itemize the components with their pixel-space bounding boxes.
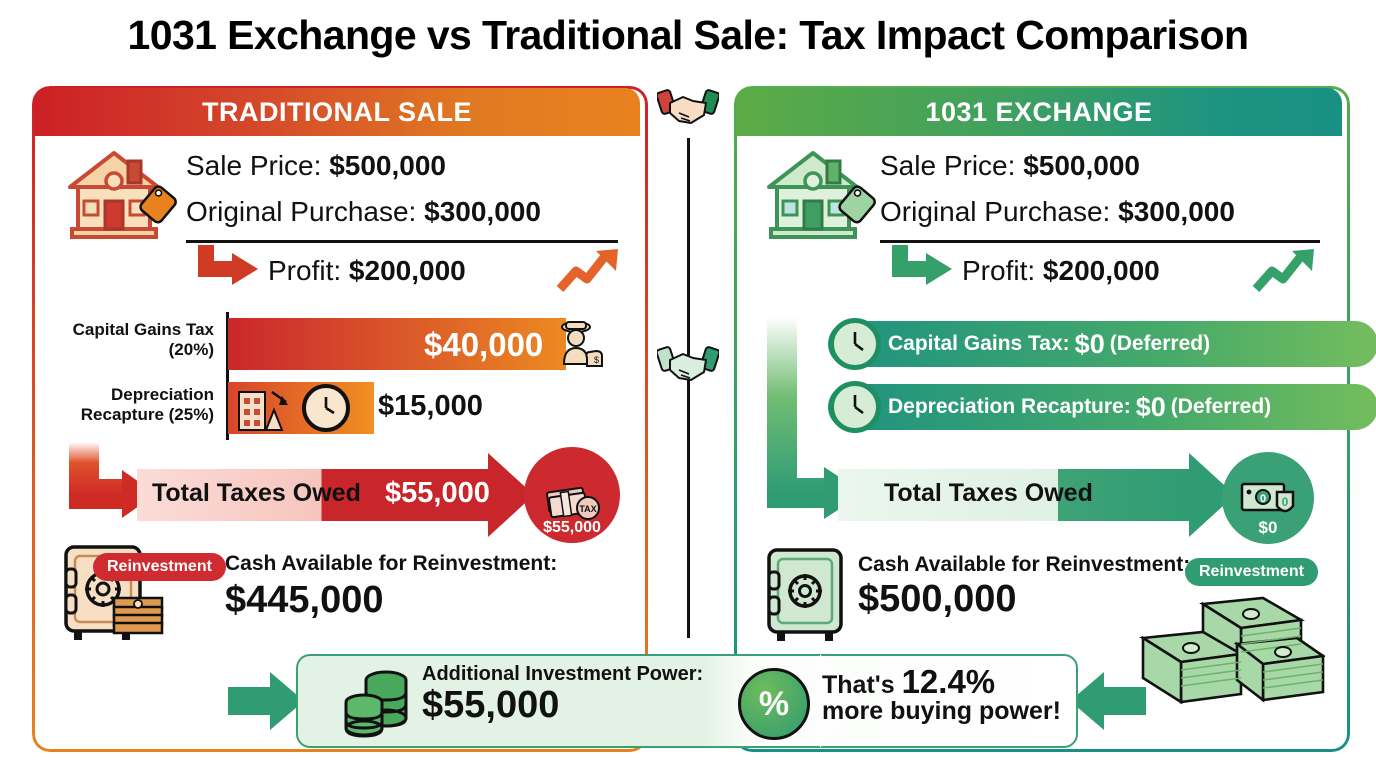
percent-badge-icon: % xyxy=(738,668,810,740)
page-title: 1031 Exchange vs Traditional Sale: Tax I… xyxy=(0,12,1376,59)
divider-rule-right xyxy=(880,240,1320,243)
cash-available-value-left: $445,000 xyxy=(225,579,384,622)
total-taxes-circle-value-left: $55,000 xyxy=(543,519,601,537)
sale-price-value-left: $500,000 xyxy=(329,150,446,181)
capital-gains-value-left: $40,000 xyxy=(424,326,543,364)
sale-price-row-right: Sale Price: $500,000 xyxy=(880,150,1140,182)
capital-gains-note-right: (Deferred) xyxy=(1110,332,1210,356)
depreciation-pill-right: Depreciation Recapture: $0 (Deferred) xyxy=(828,384,1376,430)
divider-rule-left xyxy=(186,240,618,243)
buying-power-line1: That's 12.4% xyxy=(822,663,995,701)
trend-up-icon-right xyxy=(1252,245,1320,300)
profit-row-right: Profit: $200,000 xyxy=(962,255,1160,287)
trend-up-icon-left xyxy=(556,245,624,300)
additional-investment-power-label: Additional Investment Power: xyxy=(422,663,703,686)
capital-gains-label-right: Capital Gains Tax: xyxy=(888,332,1070,356)
total-taxes-circle-value-right: $0 xyxy=(1259,518,1278,538)
sale-price-value-right: $500,000 xyxy=(1023,150,1140,181)
depreciation-value-left: $15,000 xyxy=(378,390,483,423)
exchange-1031-header: 1031 EXCHANGE xyxy=(736,88,1342,136)
original-purchase-value-right: $300,000 xyxy=(1118,196,1235,227)
capital-gains-pill-right: Capital Gains Tax: $0 (Deferred) xyxy=(828,321,1376,367)
profit-value-left: $200,000 xyxy=(349,255,466,286)
depreciation-value-right: $0 xyxy=(1136,392,1166,423)
profit-value-right: $200,000 xyxy=(1043,255,1160,286)
profit-label-right: Profit: xyxy=(962,255,1035,286)
total-taxes-value-left: $55,000 xyxy=(385,477,490,510)
svg-text:$: $ xyxy=(594,355,599,365)
clock-icon-left xyxy=(302,384,350,432)
house-icon-left xyxy=(58,143,178,243)
cash-available-value-right: $500,000 xyxy=(858,578,1017,621)
banner-arrow-left-tail xyxy=(228,687,274,715)
sale-price-label-left: Sale Price: xyxy=(186,150,321,181)
traditional-sale-header: TRADITIONAL SALE xyxy=(34,88,640,136)
original-purchase-label-left: Original Purchase: xyxy=(186,196,416,227)
svg-text:TAX: TAX xyxy=(579,504,596,514)
total-taxes-circle-left: TAX $55,000 xyxy=(524,447,620,543)
buying-power-prefix: That's xyxy=(822,671,895,699)
depreciation-label-right: Depreciation Recapture: xyxy=(888,395,1131,419)
capital-gains-value-right: $0 xyxy=(1075,329,1105,360)
total-taxes-label-right: Total Taxes Owed xyxy=(884,479,1093,508)
original-purchase-label-right: Original Purchase: xyxy=(880,196,1110,227)
clock-icon-depreciation xyxy=(829,381,881,433)
traditional-sale-header-label: TRADITIONAL SALE xyxy=(202,97,472,128)
svg-text:0: 0 xyxy=(1260,493,1266,505)
exchange-1031-header-label: 1031 EXCHANGE xyxy=(925,97,1152,128)
cash-available-label-left: Cash Available for Reinvestment: xyxy=(225,552,557,576)
cash-available-label-right: Cash Available for Reinvestment: xyxy=(858,553,1190,577)
building-decline-icon xyxy=(236,386,292,437)
clock-icon-capital-gains xyxy=(829,318,881,370)
banner-arrow-right-tail xyxy=(1100,687,1146,715)
sale-price-label-right: Sale Price: xyxy=(880,150,1015,181)
capital-gains-label-left: Capital Gains Tax (20%) xyxy=(58,320,214,361)
profit-row-left: Profit: $200,000 xyxy=(268,255,466,287)
money-stack-icon-right xyxy=(1125,594,1325,719)
depreciation-note-right: (Deferred) xyxy=(1171,395,1271,419)
percent-glyph: % xyxy=(759,685,789,724)
sale-price-row-left: Sale Price: $500,000 xyxy=(186,150,446,182)
additional-investment-power-value: $55,000 xyxy=(422,684,559,727)
original-purchase-value-left: $300,000 xyxy=(424,196,541,227)
total-taxes-label-left: Total Taxes Owed xyxy=(152,479,361,508)
buying-power-percent: 12.4% xyxy=(902,663,996,700)
svg-text:0: 0 xyxy=(1282,495,1289,509)
handshake-icon-middle xyxy=(657,340,719,393)
total-taxes-circle-right: 0 0 $0 xyxy=(1222,452,1314,544)
buying-power-line2: more buying power! xyxy=(822,697,1061,726)
house-icon-right xyxy=(757,143,877,243)
reinvestment-badge-left: Reinvestment xyxy=(93,553,226,581)
depreciation-label-left: Depreciation Recapture (25%) xyxy=(58,385,214,426)
coin-stack-icon xyxy=(340,664,416,745)
profit-label-left: Profit: xyxy=(268,255,341,286)
handshake-icon-top xyxy=(657,83,719,136)
reinvestment-badge-right: Reinvestment xyxy=(1185,558,1318,586)
tax-collector-icon: $ xyxy=(558,318,604,375)
original-purchase-row-right: Original Purchase: $300,000 xyxy=(880,196,1235,228)
safe-icon-right xyxy=(763,546,849,647)
original-purchase-row-left: Original Purchase: $300,000 xyxy=(186,196,541,228)
